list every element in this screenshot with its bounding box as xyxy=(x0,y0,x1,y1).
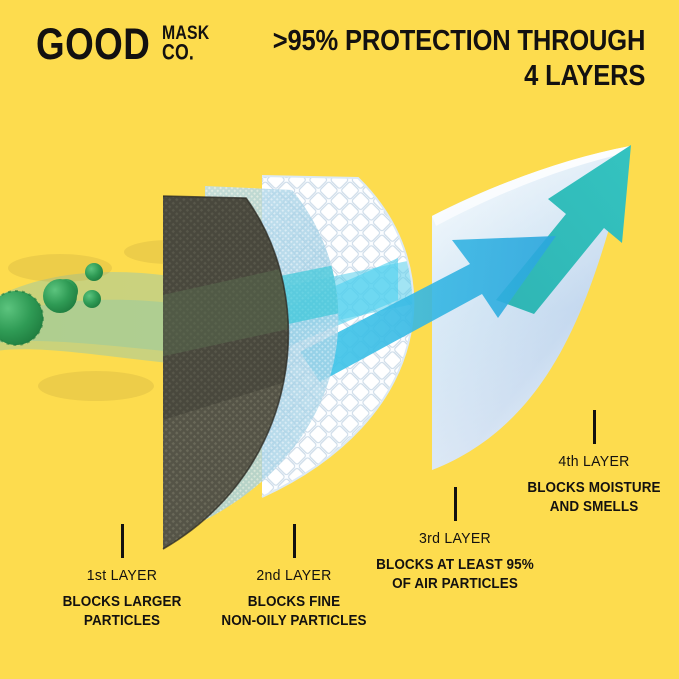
callout-description-3: BLOCKS AT LEAST 95% OF AIR PARTICLES xyxy=(348,556,562,594)
headline: >95% PROTECTION THROUGH 4 LAYERS xyxy=(273,24,645,95)
brand-name-primary: GOOD xyxy=(36,22,150,67)
callout-description-2: BLOCKS FINE NON-OILY PARTICLES xyxy=(187,593,401,631)
callout-tick-1 xyxy=(121,524,124,558)
mask-layer-1 xyxy=(140,196,330,549)
brand-logo: GOOD MASK CO. xyxy=(36,22,213,62)
germ-plume xyxy=(0,240,372,410)
callout-description-4: BLOCKS MOISTURE AND SMELLS xyxy=(487,479,679,517)
headline-line-1: >95% PROTECTION THROUGH xyxy=(273,24,645,59)
brand-name-co: CO. xyxy=(162,42,209,65)
infographic-poster: GOOD MASK CO. >95% PROTECTION THROUGH 4 … xyxy=(0,0,679,679)
callout-tick-4 xyxy=(593,410,596,444)
mask-layer-2 xyxy=(180,186,400,520)
callout-layer-4: 4th LAYER BLOCKS MOISTURE AND SMELLS xyxy=(479,410,679,517)
mask-layer-3 xyxy=(220,176,470,497)
headline-line-2: 4 LAYERS xyxy=(273,59,645,94)
germ-particles xyxy=(0,259,318,349)
airflow-arrow xyxy=(236,236,556,382)
callout-number-4: 4th LAYER xyxy=(486,453,679,470)
callout-number-3: 3rd LAYER xyxy=(347,530,563,547)
brand-name-secondary: MASK CO. xyxy=(162,23,213,62)
callout-tick-3 xyxy=(454,487,457,521)
filtered-air-arrow xyxy=(496,145,631,314)
callout-tick-2 xyxy=(293,524,296,558)
